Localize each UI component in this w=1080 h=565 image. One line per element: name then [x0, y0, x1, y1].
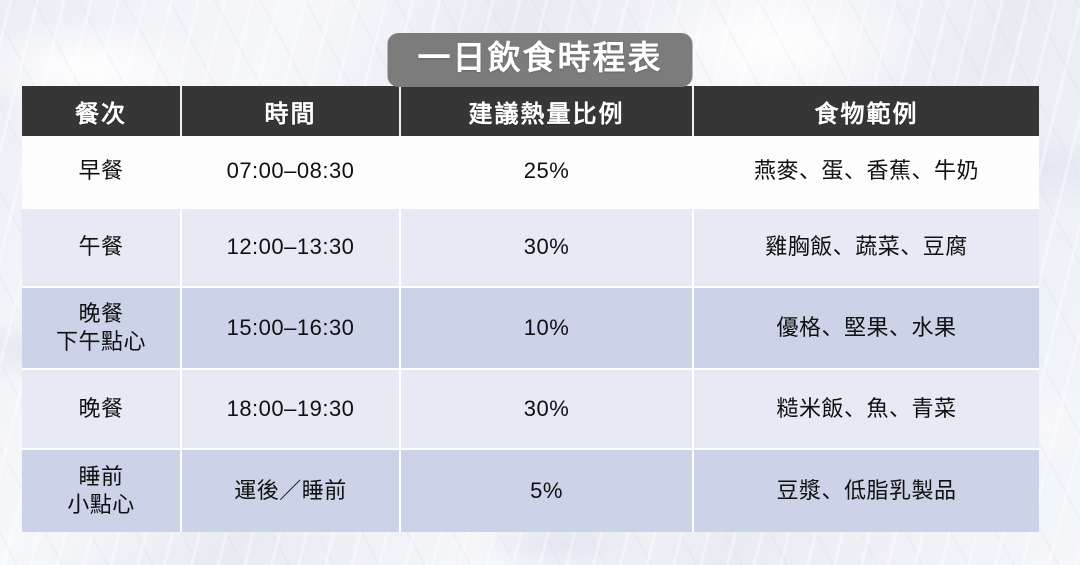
table-row: 晚餐 下午點心 15:00–16:30 10% 優格、堅果、水果 — [22, 287, 1039, 369]
cell-meal-line1: 晚餐 — [26, 395, 176, 423]
column-header-meal: 餐次 — [22, 86, 181, 136]
cell-food-examples: 優格、堅果、水果 — [693, 287, 1039, 369]
table-row: 晚餐 18:00–19:30 30% 糙米飯、魚、青菜 — [22, 369, 1039, 449]
cell-calorie-ratio: 30% — [400, 369, 693, 449]
cell-meal-line1: 睡前 — [26, 463, 176, 491]
poster-canvas: 一日飲食時程表 餐次 時間 建議熱量比例 食物範例 早餐 07:00–08:30 — [0, 0, 1080, 565]
cell-calorie-ratio: 10% — [400, 287, 693, 369]
cell-meal-line1: 午餐 — [26, 233, 176, 261]
column-header-food-examples: 食物範例 — [693, 86, 1039, 136]
page-title-text: 一日飲食時程表 — [418, 38, 663, 78]
page-title: 一日飲食時程表 — [388, 33, 693, 87]
column-header-time: 時間 — [181, 86, 400, 136]
cell-meal-line1: 早餐 — [26, 157, 176, 185]
cell-calorie-ratio: 25% — [400, 136, 693, 208]
cell-calorie-ratio: 5% — [400, 449, 693, 532]
table-row: 早餐 07:00–08:30 25% 燕麥、蛋、香蕉、牛奶 — [22, 136, 1039, 208]
cell-food-examples: 雞胸飯、蔬菜、豆腐 — [693, 208, 1039, 287]
cell-food-examples: 豆漿、低脂乳製品 — [693, 449, 1039, 532]
table-header: 餐次 時間 建議熱量比例 食物範例 — [22, 86, 1039, 136]
cell-time: 07:00–08:30 — [181, 136, 400, 208]
table-header-row: 餐次 時間 建議熱量比例 食物範例 — [22, 86, 1039, 136]
table-row: 午餐 12:00–13:30 30% 雞胸飯、蔬菜、豆腐 — [22, 208, 1039, 287]
diet-schedule-table: 餐次 時間 建議熱量比例 食物範例 早餐 07:00–08:30 25% 燕麥、… — [22, 86, 1039, 532]
cell-time: 15:00–16:30 — [181, 287, 400, 369]
cell-food-examples: 燕麥、蛋、香蕉、牛奶 — [693, 136, 1039, 208]
cell-meal-line2: 小點心 — [26, 491, 176, 519]
cell-time: 18:00–19:30 — [181, 369, 400, 449]
column-header-calorie-ratio: 建議熱量比例 — [400, 86, 693, 136]
table-row: 睡前 小點心 運後／睡前 5% 豆漿、低脂乳製品 — [22, 449, 1039, 532]
cell-meal: 早餐 — [22, 136, 181, 208]
cell-meal: 午餐 — [22, 208, 181, 287]
cell-meal: 晚餐 — [22, 369, 181, 449]
cell-meal-line1: 晚餐 — [26, 300, 176, 328]
cell-time: 12:00–13:30 — [181, 208, 400, 287]
cell-time: 運後／睡前 — [181, 449, 400, 532]
cell-meal-line2: 下午點心 — [26, 328, 176, 356]
cell-meal: 睡前 小點心 — [22, 449, 181, 532]
cell-food-examples: 糙米飯、魚、青菜 — [693, 369, 1039, 449]
table-body: 早餐 07:00–08:30 25% 燕麥、蛋、香蕉、牛奶 午餐 12:00–1… — [22, 136, 1039, 532]
cell-calorie-ratio: 30% — [400, 208, 693, 287]
cell-meal: 晚餐 下午點心 — [22, 287, 181, 369]
